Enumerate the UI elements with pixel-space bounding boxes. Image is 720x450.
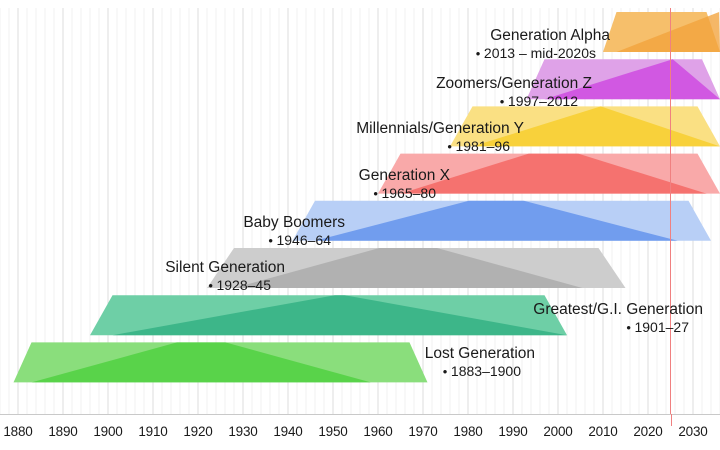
tick-label-2000: 2000 [534,424,582,439]
tick-label-1890: 1890 [39,424,87,439]
tick-label-1930: 1930 [219,424,267,439]
band-label-title: Lost Generation [205,345,535,363]
plot-area: Generation Alpha2013 – mid-2020sZoomers/… [0,0,720,414]
band-label-5: Baby Boomers1946–64 [15,214,345,249]
band-label-4: Generation X1965–80 [120,167,450,202]
band-label-years: 2013 – mid-2020s [280,45,610,62]
band-label-title: Generation Alpha [280,27,610,45]
band-label-3: Millennials/Generation Y1981–96 [194,120,524,155]
tick-label-1920: 1920 [174,424,222,439]
band-label-title: Zoomers/Generation Z [262,75,592,93]
axis-rule [0,414,720,415]
band-label-title: Generation X [120,167,450,185]
band-label-years: 1981–96 [194,138,524,155]
band-label-title: Millennials/Generation Y [194,120,524,138]
tick-label-1910: 1910 [129,424,177,439]
band-label-7: Greatest/G.I. Generation1901–27 [373,301,703,336]
x-axis: 1880189019001910192019301940195019601970… [0,414,720,450]
tick-label-2010: 2010 [579,424,627,439]
band-label-years: 1928–45 [0,277,285,294]
tick-label-1960: 1960 [354,424,402,439]
tick-label-2020: 2020 [624,424,672,439]
band-label-8: Lost Generation1883–1900 [205,345,535,380]
band-label-1: Generation Alpha2013 – mid-2020s [280,27,610,62]
tick-label-2030: 2030 [669,424,717,439]
tick-label-1990: 1990 [489,424,537,439]
band-label-years: 1946–64 [15,232,345,249]
band-label-6: Silent Generation1928–45 [0,259,285,294]
tick-label-1940: 1940 [264,424,312,439]
band-label-years: 1965–80 [120,185,450,202]
band-label-title: Silent Generation [0,259,285,277]
band-label-2: Zoomers/Generation Z1997–2012 [262,75,592,110]
present-year-axis-tick [671,414,672,426]
generations-timeline-chart: Generation Alpha2013 – mid-2020sZoomers/… [0,0,720,450]
tick-label-1980: 1980 [444,424,492,439]
band-label-years: 1997–2012 [262,93,592,110]
tick-label-1970: 1970 [399,424,447,439]
tick-label-1900: 1900 [84,424,132,439]
tick-label-1880: 1880 [0,424,42,439]
band-label-years: 1901–27 [373,319,703,336]
tick-label-1950: 1950 [309,424,357,439]
band-label-title: Baby Boomers [15,214,345,232]
band-label-years: 1883–1900 [205,363,535,380]
band-label-title: Greatest/G.I. Generation [373,301,703,319]
